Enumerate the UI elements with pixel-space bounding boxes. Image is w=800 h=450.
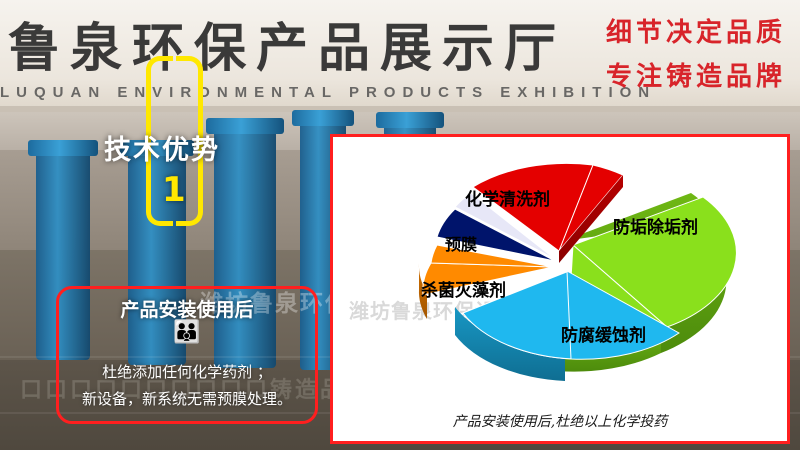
page-title: 技术优势 <box>104 128 220 167</box>
product-benefit-panel: 产品安装使用后 👪 杜绝添加任何化学药剂 ； 新设备，新系统无需预膜处理。 <box>56 286 318 424</box>
pie-label-antiscalant: 防垢除垢剂 <box>613 213 698 238</box>
banner-title: 鲁泉环保产品展示厅 <box>8 6 566 81</box>
section-number: 1 <box>162 170 186 210</box>
banner-slogan-line2: 专注铸造品牌 <box>606 56 786 93</box>
banner-slogan-line1: 细节决定品质 <box>606 12 786 49</box>
pie-label-biocide: 杀菌灭藻剂 <box>421 276 506 301</box>
pie-label-chemical-cleaner: 化学清洗剂 <box>465 185 550 210</box>
exhibition-banner: 鲁泉环保产品展示厅 LUQUAN ENVIRONMENTAL PRODUCTS … <box>0 0 800 112</box>
screenshot-root: 鲁泉环保产品展示厅 LUQUAN ENVIRONMENTAL PRODUCTS … <box>0 0 800 450</box>
panel-text-line1: 杜绝添加任何化学药剂 ； <box>67 361 307 382</box>
chart-caption: 产品安装使用后,杜绝以上化学投药 <box>333 411 787 431</box>
pie-chart-svg <box>361 141 765 407</box>
panel-text-line2: 新设备，新系统无需预膜处理。 <box>67 388 307 409</box>
pie-label-corrosion-inhibitor: 防腐缓蚀剂 <box>561 321 646 346</box>
pie-chart: 化学清洗剂 防垢除垢剂 预膜 杀菌灭藻剂 防腐缓蚀剂 <box>361 141 765 407</box>
machine-cap-1 <box>28 140 98 156</box>
machine-cap-4 <box>292 110 354 126</box>
banner-subtitle: LUQUAN ENVIRONMENTAL PRODUCTS EXHIBITION <box>0 84 656 101</box>
pie-label-prefilm: 预膜 <box>445 231 477 255</box>
machine-cap-5 <box>376 112 444 128</box>
panel-title: 产品安装使用后 <box>59 295 315 322</box>
people-icon: 👪 <box>59 321 315 343</box>
chart-card: 潍坊鲁泉环保设备有限公司 <box>330 134 790 444</box>
